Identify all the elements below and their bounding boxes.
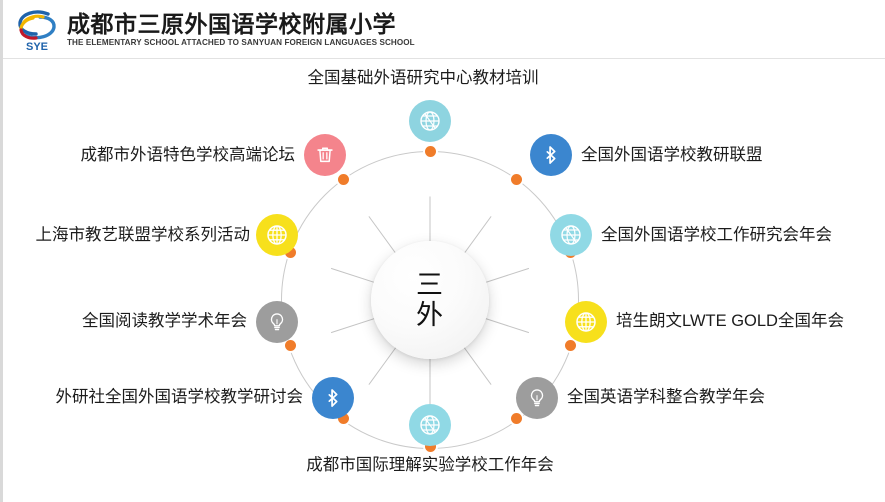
node-icon-globe-grid[interactable] bbox=[256, 214, 298, 256]
node-icon-bluetooth[interactable] bbox=[530, 134, 572, 176]
lightbulb-icon bbox=[266, 311, 288, 333]
node-label-8: 上海市教艺联盟学校系列活动 bbox=[3, 224, 250, 246]
bluetooth-icon bbox=[540, 144, 562, 166]
globe-network-icon bbox=[418, 109, 442, 133]
ring-dot bbox=[511, 413, 522, 424]
center-label-line1: 三 bbox=[416, 270, 444, 300]
page-header: SYE 成都市三原外国语学校附属小学 THE ELEMENTARY SCHOOL… bbox=[3, 0, 885, 59]
node-label-0: 全国基础外语研究中心教材培训 bbox=[173, 67, 673, 89]
node-icon-globe-network[interactable] bbox=[409, 100, 451, 142]
ring-dot bbox=[285, 340, 296, 351]
sye-globe-swirl-logo-icon: SYE bbox=[15, 8, 61, 52]
node-icon-globe-network[interactable] bbox=[409, 404, 451, 446]
bluetooth-icon bbox=[322, 387, 344, 409]
school-name-cn: 成都市三原外国语学校附属小学 bbox=[67, 12, 418, 37]
node-label-9: 成都市外语特色学校高端论坛 bbox=[3, 144, 295, 166]
node-label-3: 培生朗文LWTE GOLD全国年会 bbox=[616, 310, 844, 332]
node-label-6: 外研社全国外国语学校教学研讨会 bbox=[3, 386, 303, 408]
school-logo: SYE 成都市三原外国语学校附属小学 THE ELEMENTARY SCHOOL… bbox=[15, 8, 418, 52]
school-name-block: 成都市三原外国语学校附属小学 THE ELEMENTARY SCHOOL ATT… bbox=[67, 12, 418, 48]
trash-bin-icon bbox=[314, 144, 336, 166]
node-icon-lightbulb[interactable] bbox=[516, 377, 558, 419]
node-label-1: 全国外国语学校教研联盟 bbox=[581, 144, 763, 166]
page-root: SYE 成都市三原外国语学校附属小学 THE ELEMENTARY SCHOOL… bbox=[0, 0, 885, 502]
node-label-7: 全国阅读教学学术年会 bbox=[3, 310, 247, 332]
node-label-5: 成都市国际理解实验学校工作年会 bbox=[180, 454, 680, 476]
center-label-line2: 外 bbox=[416, 300, 444, 330]
node-icon-lightbulb[interactable] bbox=[256, 301, 298, 343]
globe-network-icon bbox=[418, 413, 442, 437]
globe-grid-icon bbox=[265, 223, 289, 247]
ring-dot bbox=[565, 340, 576, 351]
school-name-en: THE ELEMENTARY SCHOOL ATTACHED TO SANYUA… bbox=[67, 37, 415, 48]
globe-grid-icon bbox=[574, 310, 598, 334]
node-icon-globe-grid[interactable] bbox=[565, 301, 607, 343]
radial-diagram: 三 外 全国基础外语研究中心教材培训 全 bbox=[3, 59, 885, 502]
ring-dot bbox=[338, 174, 349, 185]
node-icon-globe-network[interactable] bbox=[550, 214, 592, 256]
svg-text:SYE: SYE bbox=[26, 41, 48, 52]
node-label-4: 全国英语学科整合教学年会 bbox=[567, 386, 765, 408]
node-icon-trash-bin[interactable] bbox=[304, 134, 346, 176]
ring-dot bbox=[511, 174, 522, 185]
node-icon-bluetooth[interactable] bbox=[312, 377, 354, 419]
globe-network-icon bbox=[559, 223, 583, 247]
center-badge: 三 外 bbox=[371, 241, 489, 359]
ring-dot bbox=[425, 146, 436, 157]
lightbulb-icon bbox=[526, 387, 548, 409]
node-label-2: 全国外国语学校工作研究会年会 bbox=[601, 224, 832, 246]
